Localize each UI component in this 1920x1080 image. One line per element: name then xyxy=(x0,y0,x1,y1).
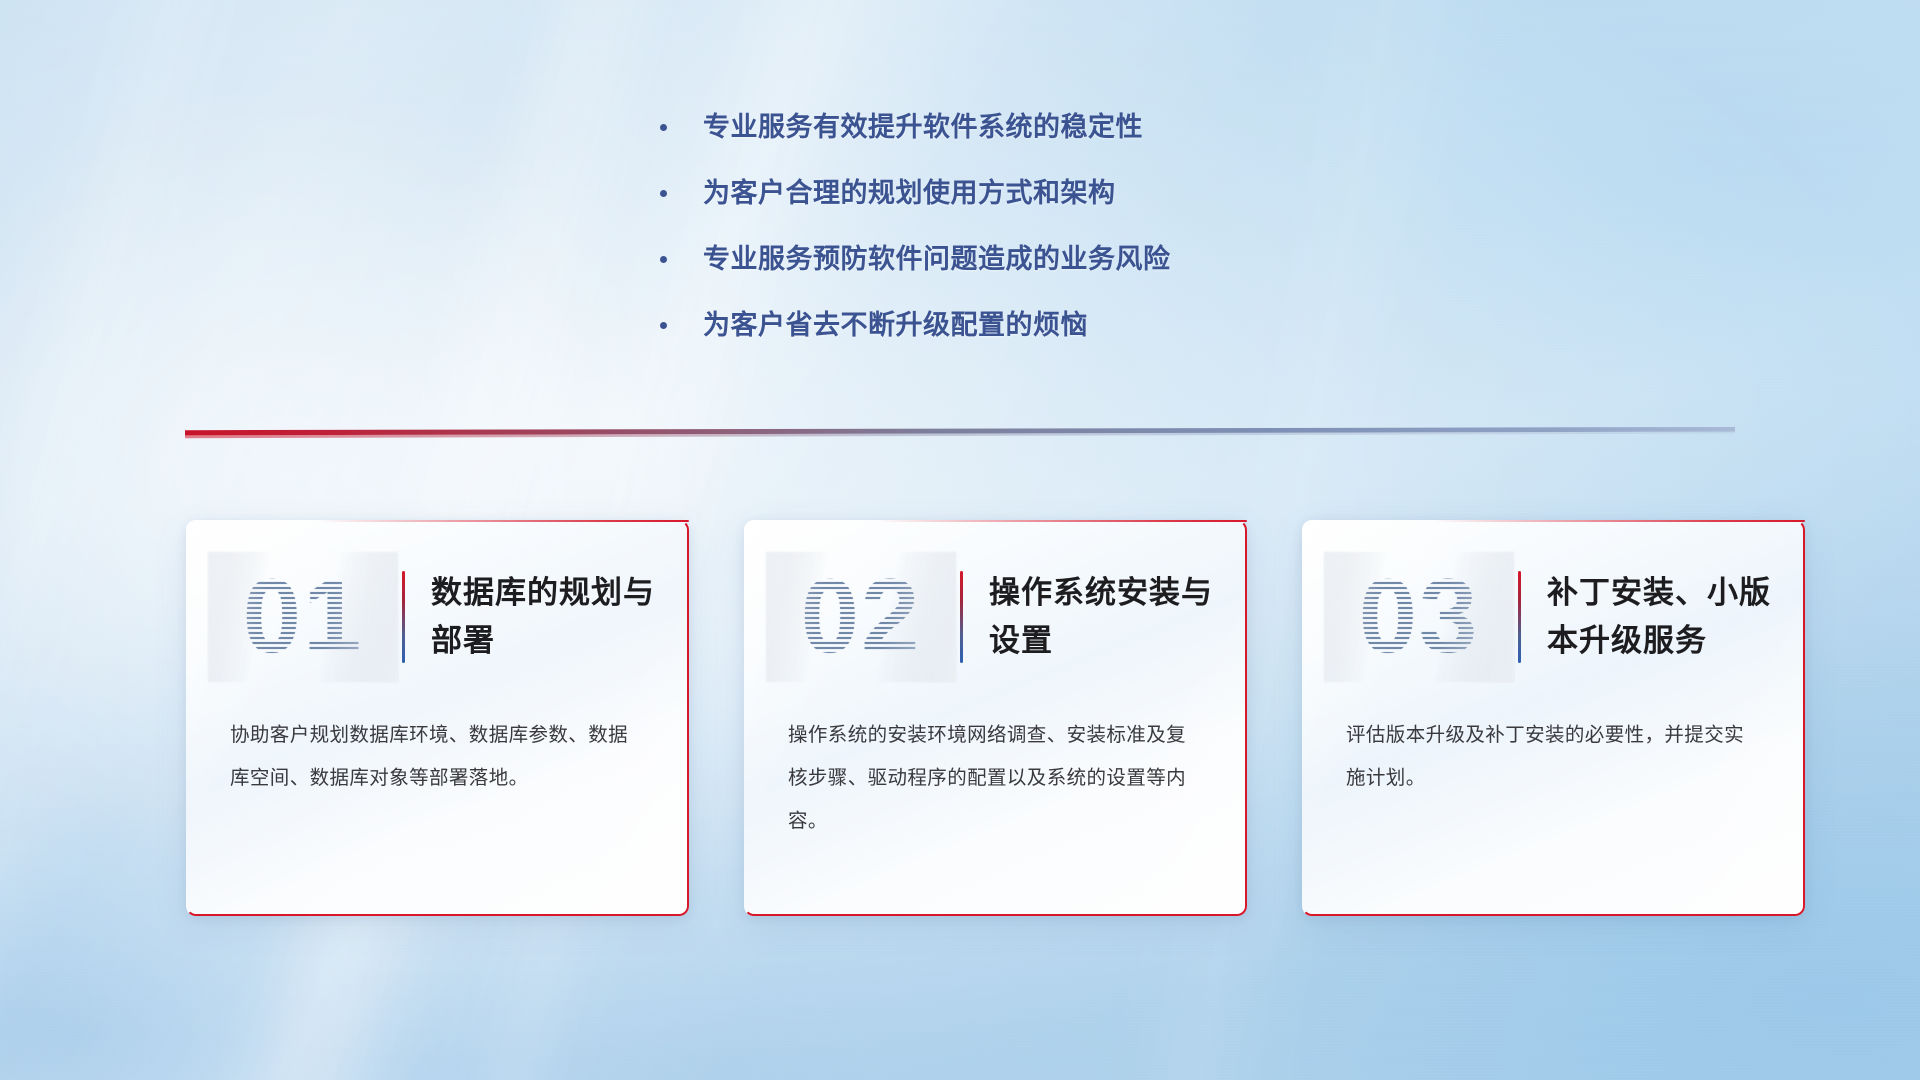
card-description: 评估版本升级及补丁安装的必要性，并提交实施计划。 xyxy=(1302,680,1805,800)
bullet-text: 为客户省去不断升级配置的烦恼 xyxy=(703,306,1088,344)
bullet-text: 专业服务预防软件问题造成的业务风险 xyxy=(703,240,1171,278)
service-card-02[interactable]: 02 操作系统安装与设置 操作系统的安装环境网络调查、安装标准及复核步骤、驱动程… xyxy=(744,520,1247,916)
card-header: 02 操作系统安装与设置 xyxy=(744,520,1247,680)
benefits-bullet-list: 专业服务有效提升软件系统的稳定性 为客户合理的规划使用方式和架构 专业服务预防软… xyxy=(660,108,1420,372)
card-title-rule xyxy=(960,571,963,663)
card-description: 协助客户规划数据库环境、数据库参数、数据库空间、数据库对象等部署落地。 xyxy=(186,680,689,800)
service-card-list: 01 数据库的规划与部署 协助客户规划数据库环境、数据库参数、数据库空间、数据库… xyxy=(186,520,1806,920)
card-number: 01 xyxy=(208,552,398,682)
list-item: 为客户省去不断升级配置的烦恼 xyxy=(660,306,1420,344)
service-card-03[interactable]: 03 补丁安装、小版本升级服务 评估版本升级及补丁安装的必要性，并提交实施计划。 xyxy=(1302,520,1805,916)
card-title-rule xyxy=(1518,571,1521,663)
list-item: 为客户合理的规划使用方式和架构 xyxy=(660,174,1420,212)
list-item: 专业服务预防软件问题造成的业务风险 xyxy=(660,240,1420,278)
bullet-text: 专业服务有效提升软件系统的稳定性 xyxy=(703,108,1143,146)
card-title: 补丁安装、小版本升级服务 xyxy=(1547,569,1787,665)
card-header: 01 数据库的规划与部署 xyxy=(186,520,689,680)
bullet-dot-icon xyxy=(660,256,667,263)
card-title: 数据库的规划与部署 xyxy=(431,569,671,665)
card-title: 操作系统安装与设置 xyxy=(989,569,1229,665)
bullet-dot-icon xyxy=(660,190,667,197)
card-header: 03 补丁安装、小版本升级服务 xyxy=(1302,520,1805,680)
bullet-dot-icon xyxy=(660,322,667,329)
card-number: 02 xyxy=(766,552,956,682)
service-card-01[interactable]: 01 数据库的规划与部署 协助客户规划数据库环境、数据库参数、数据库空间、数据库… xyxy=(186,520,689,916)
card-title-rule xyxy=(402,571,405,663)
list-item: 专业服务有效提升软件系统的稳定性 xyxy=(660,108,1420,146)
card-description: 操作系统的安装环境网络调查、安装标准及复核步骤、驱动程序的配置以及系统的设置等内… xyxy=(744,680,1247,843)
bullet-dot-icon xyxy=(660,124,667,131)
card-number: 03 xyxy=(1324,552,1514,682)
bullet-text: 为客户合理的规划使用方式和架构 xyxy=(703,174,1116,212)
